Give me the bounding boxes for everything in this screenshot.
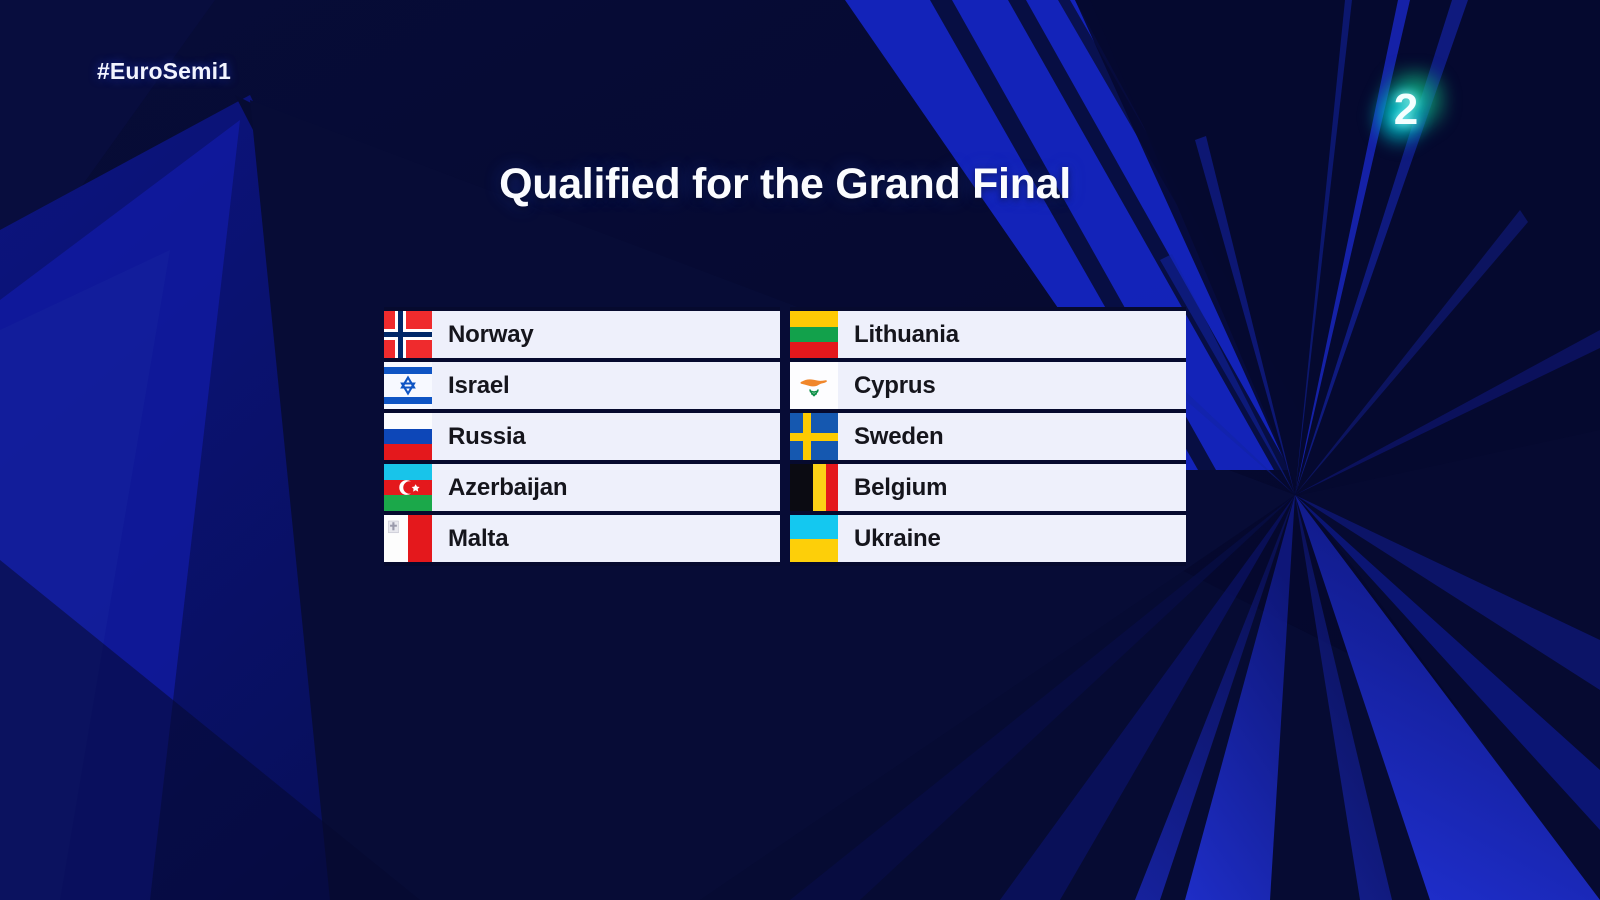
- flag-sweden-icon: [790, 413, 838, 460]
- qualifier-country-name: Cyprus: [854, 372, 936, 400]
- flag-azerbaijan-icon: [384, 464, 432, 511]
- qualifier-country-name: Russia: [448, 423, 526, 451]
- flag-russia-icon: [384, 413, 432, 460]
- qualifiers-right-column: Lithuania Cyprus Sweden Belgium Ukraine: [790, 307, 1186, 566]
- qualifier-row: Russia: [384, 413, 780, 460]
- qualifier-row: Norway: [384, 311, 780, 358]
- qualifier-row: Israel: [384, 362, 780, 409]
- channel-logo: 2: [1362, 68, 1448, 154]
- flag-lithuania-icon: [790, 311, 838, 358]
- flag-norway-icon: [384, 311, 432, 358]
- flag-belgium-icon: [790, 464, 838, 511]
- qualifier-row: Belgium: [790, 464, 1186, 511]
- qualifier-row: Azerbaijan: [384, 464, 780, 511]
- qualifier-country-name: Malta: [448, 525, 508, 553]
- qualifier-row: Sweden: [790, 413, 1186, 460]
- qualifier-row: Lithuania: [790, 311, 1186, 358]
- channel-logo-digit: 2: [1362, 68, 1448, 154]
- flag-cyprus-icon: [790, 362, 838, 409]
- qualifier-country-name: Israel: [448, 372, 510, 400]
- qualifiers-panel: Norway Israel Russia Azerbaijan Malta Li…: [384, 307, 1186, 566]
- flag-israel-icon: [384, 362, 432, 409]
- qualifier-country-name: Norway: [448, 321, 534, 349]
- qualifier-country-name: Ukraine: [854, 525, 941, 553]
- qualifiers-left-column: Norway Israel Russia Azerbaijan Malta: [384, 307, 780, 566]
- qualifier-row: Cyprus: [790, 362, 1186, 409]
- broadcast-graphic-screen: #EuroSemi1 2 Qualified for the Grand Fin…: [0, 0, 1600, 900]
- qualifier-row: Malta: [384, 515, 780, 562]
- qualifier-country-name: Lithuania: [854, 321, 959, 349]
- qualifier-country-name: Sweden: [854, 423, 944, 451]
- qualifier-country-name: Belgium: [854, 474, 947, 502]
- flag-ukraine-icon: [790, 515, 838, 562]
- qualifier-row: Ukraine: [790, 515, 1186, 562]
- qualifier-country-name: Azerbaijan: [448, 474, 567, 502]
- flag-malta-icon: [384, 515, 432, 562]
- page-title: Qualified for the Grand Final: [0, 160, 1570, 209]
- hashtag-label: #EuroSemi1: [97, 58, 231, 85]
